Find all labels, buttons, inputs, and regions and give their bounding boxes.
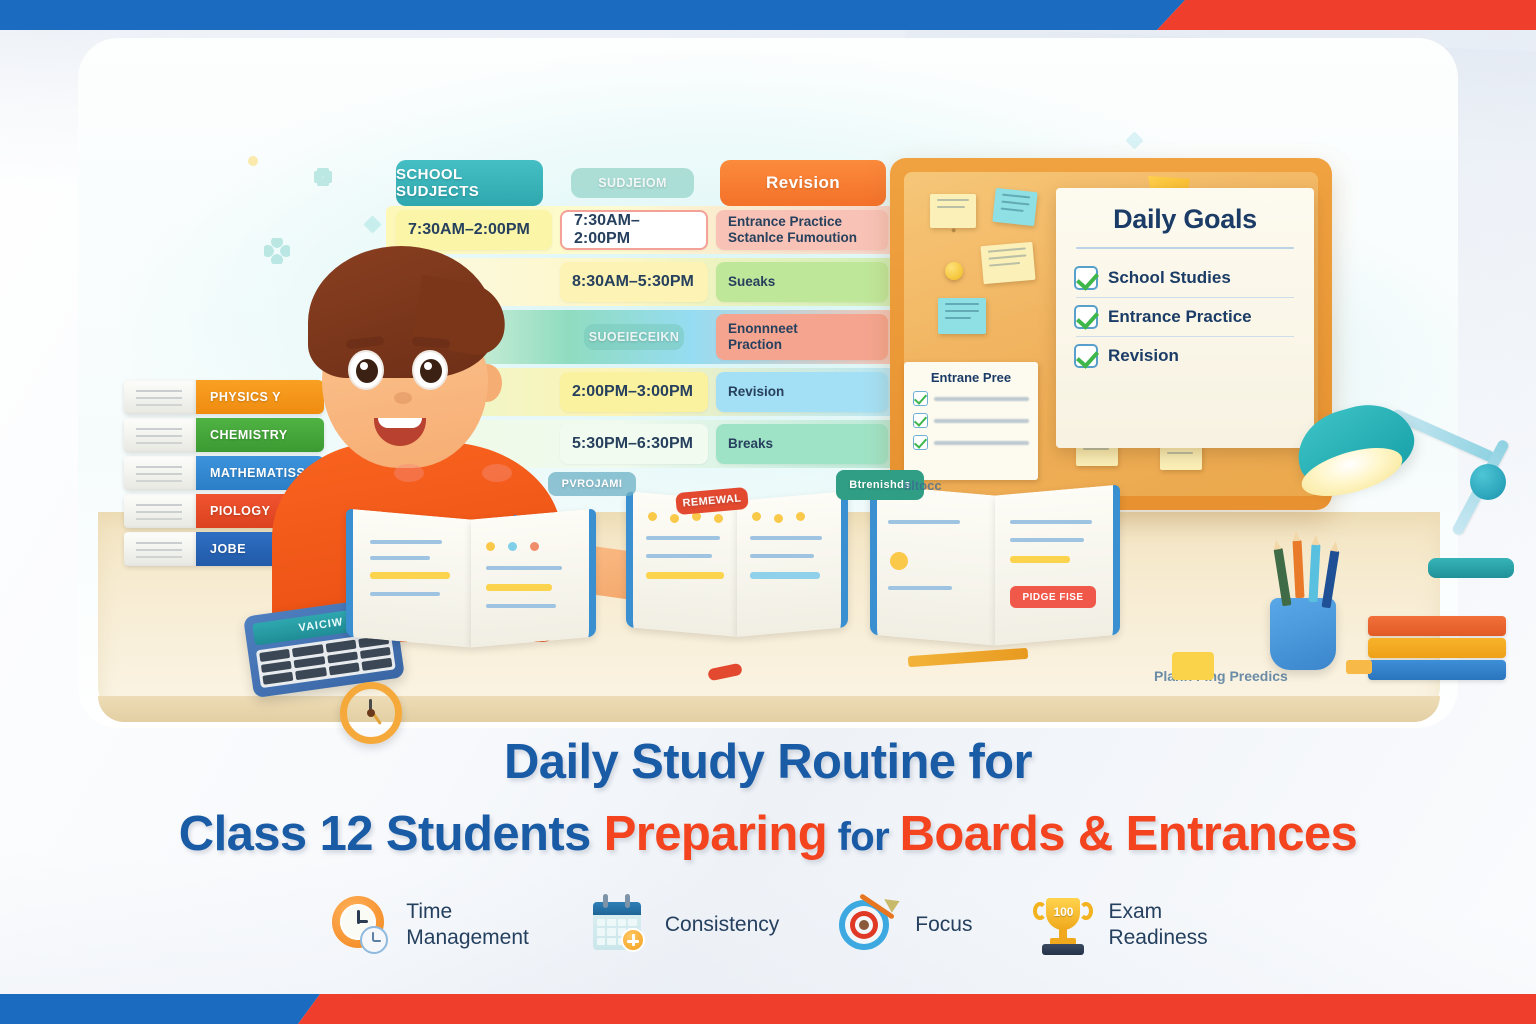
trophy-number: 100	[1049, 905, 1077, 919]
top-band-red	[1157, 0, 1536, 30]
timetable-header-row: SCHOOL SUDJECTS SUDJEIOM Revision	[396, 160, 886, 206]
checkbox-checked-icon[interactable]	[1074, 305, 1098, 329]
check-icon[interactable]	[913, 391, 928, 406]
book-item	[1368, 616, 1506, 636]
goal-item-entrance-practice[interactable]: Entrance Practice	[1072, 298, 1298, 336]
table-row[interactable]: SUOEIECEIKN Enonnneet Praction	[560, 314, 888, 360]
lamp-joint	[1470, 464, 1506, 500]
entrance-checklist-title: Entrane Pree	[913, 370, 1029, 385]
sticky-note[interactable]	[930, 194, 976, 228]
checkbox-checked-icon[interactable]	[1074, 344, 1098, 368]
book-pages	[124, 494, 196, 528]
student-nose	[394, 392, 412, 404]
book-page-left	[870, 485, 995, 646]
check-icon[interactable]	[913, 435, 928, 450]
table-row[interactable]: 5:30PM–6:30PM Breaks	[560, 424, 888, 464]
timetable-cell-right[interactable]: Revision	[716, 372, 888, 412]
goal-label: School Studies	[1108, 268, 1231, 288]
timetable-header-school-subjects[interactable]: SCHOOL SUDJECTS	[396, 160, 543, 206]
timetable-cell-right[interactable]: Entrance Practice Sctanlce Fumoution	[716, 210, 888, 250]
open-book-right: PIDGE FISE	[870, 490, 1120, 640]
book-pages	[124, 380, 196, 414]
check-icon[interactable]	[913, 413, 928, 428]
entrance-checklist-note[interactable]: Entrane Pree	[904, 362, 1038, 480]
page-title-line1: Daily Study Routine for	[0, 734, 1536, 790]
timetable-header-revision[interactable]: Revision	[720, 160, 886, 206]
divider	[1076, 247, 1294, 249]
timetable-cell-right[interactable]: Enonnneet Praction	[716, 314, 888, 360]
timetable-cell-mid[interactable]: 2:00PM–3:00PM	[560, 372, 708, 412]
target-icon	[837, 892, 903, 958]
alarm-clock-icon	[328, 892, 394, 958]
right-book-stack	[1368, 616, 1506, 680]
illustration-stage: SCHOOL SUDJECTS SUDJEIOM Revision 7:30AM…	[78, 38, 1458, 728]
clock-hub	[367, 709, 375, 717]
student-cheek	[394, 464, 424, 482]
placeholder-line	[934, 397, 1029, 401]
timetable-cell-mid[interactable]: 7:30AM–2:00PM	[560, 210, 708, 250]
student-eye	[412, 350, 448, 390]
feature-row: Time Management Consistency Focus 100	[0, 892, 1536, 958]
decor-chip-left: PVROJAMI	[548, 472, 636, 496]
title-part-for: for	[827, 815, 900, 859]
timetable-header-ghost[interactable]: SUDJEIOM	[571, 168, 694, 198]
top-band-blue	[0, 0, 1185, 30]
timetable-cell-right[interactable]: Breaks	[716, 424, 888, 464]
eraser-icon	[1346, 660, 1372, 674]
daily-goals-card: Daily Goals School Studies Entrance Prac…	[1056, 188, 1314, 448]
infographic-page: SCHOOL SUDJECTS SUDJEIOM Revision 7:30AM…	[0, 0, 1536, 1024]
feature-label: Exam Readiness	[1108, 899, 1207, 950]
table-row[interactable]: 2:00PM–3:00PM Revision	[560, 372, 888, 412]
bottom-color-band	[0, 994, 1536, 1024]
open-book-center	[626, 496, 848, 632]
checkbox-checked-icon[interactable]	[1074, 266, 1098, 290]
book-item	[1368, 660, 1506, 680]
decor-ghost-label: iiltocc	[904, 478, 942, 493]
lamp-base	[1428, 558, 1514, 578]
book-pages	[124, 456, 196, 490]
timetable-cell-left[interactable]: 7:30AM–2:00PM	[396, 210, 552, 250]
list-item[interactable]	[913, 435, 1029, 450]
feature-consistency[interactable]: Consistency	[587, 892, 779, 958]
list-item[interactable]	[913, 391, 1029, 406]
desk-edge	[98, 696, 1440, 722]
title-part-preparing: Preparing	[604, 807, 827, 861]
sticky-note[interactable]	[938, 298, 986, 334]
timetable-cell-mid-ghost[interactable]: SUOEIECEIKN	[584, 324, 684, 350]
feature-label: Focus	[915, 912, 972, 938]
student-eye	[348, 350, 384, 390]
page-title-line2: Class 12 Students Preparing for Boards &…	[0, 806, 1536, 862]
decor-dot	[248, 156, 258, 166]
book-chip-label: PIDGE FISE	[1010, 586, 1096, 608]
feature-label: Consistency	[665, 912, 779, 938]
sticky-square-icon	[1172, 652, 1214, 680]
placeholder-line	[934, 419, 1029, 423]
book-pages	[124, 532, 196, 566]
timetable-cell-right[interactable]: Sueaks	[716, 262, 888, 302]
book-pages	[124, 418, 196, 452]
sticky-note[interactable]	[992, 188, 1037, 226]
table-row[interactable]: 7:30AM–2:00PM 7:30AM–2:00PM Entrance Pra…	[396, 210, 888, 250]
placeholder-line	[934, 441, 1029, 445]
top-color-band	[0, 0, 1536, 30]
list-item[interactable]	[913, 413, 1029, 428]
daily-goals-title: Daily Goals	[1072, 204, 1298, 235]
bottom-band-red	[298, 994, 1536, 1024]
timetable-cell-mid[interactable]: 8:30AM–5:30PM	[560, 262, 708, 302]
book-item	[1368, 638, 1506, 658]
pencil-cup	[1270, 598, 1336, 670]
calendar-icon	[587, 892, 653, 958]
feature-time-management[interactable]: Time Management	[328, 892, 529, 958]
timetable-cell-mid[interactable]: 5:30PM–6:30PM	[560, 424, 708, 464]
feature-exam-readiness[interactable]: 100 Exam Readiness	[1030, 892, 1207, 958]
trophy-icon: 100	[1030, 892, 1096, 958]
goal-label: Entrance Practice	[1108, 307, 1252, 327]
corkboard: Entrane Pree Daily Goals School Studies …	[890, 158, 1332, 510]
goal-item-school-studies[interactable]: School Studies	[1072, 259, 1298, 297]
pin-icon	[945, 262, 963, 280]
title-block: Daily Study Routine for Class 12 Student…	[0, 734, 1536, 862]
goal-item-revision[interactable]: Revision	[1072, 337, 1298, 375]
table-row[interactable]: 8:30AM–5:30PM Sueaks	[560, 262, 888, 302]
notebook-page-right	[471, 509, 596, 648]
title-part-boards: Boards & Entrances	[900, 807, 1358, 861]
bottom-band-blue	[0, 994, 320, 1024]
goal-label: Revision	[1108, 346, 1179, 366]
title-part-class: Class 12 Students	[179, 807, 604, 861]
open-notebook-student	[346, 514, 596, 642]
book-page-right	[995, 485, 1120, 646]
feature-focus[interactable]: Focus	[837, 892, 972, 958]
feature-label: Time Management	[406, 899, 529, 950]
decor-clover	[314, 168, 332, 186]
sticky-note[interactable]	[980, 242, 1035, 284]
student-cheek	[482, 464, 512, 482]
